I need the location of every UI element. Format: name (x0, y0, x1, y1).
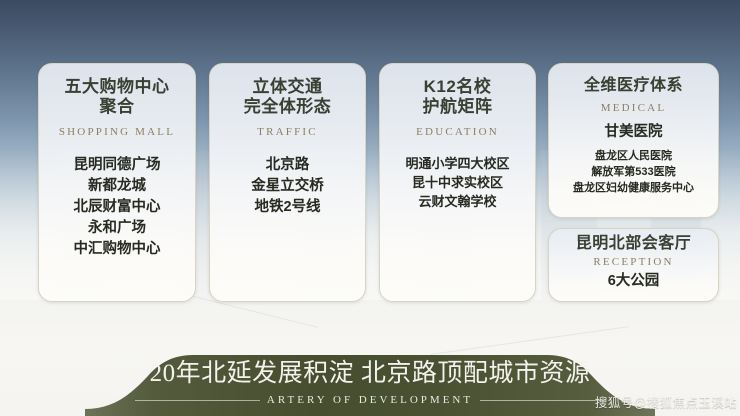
list-item: 盘龙区人民医院 (549, 149, 718, 165)
card-traffic-subtitle: TRAFFIC (210, 126, 365, 138)
card-traffic-title-line2: 完全体形态 (210, 97, 365, 117)
list-item: 解放军第533医院 (549, 165, 718, 181)
list-item: 盘龙区妇幼健康服务中心 (549, 181, 718, 197)
card-reception-title: 昆明北部会客厅 (549, 235, 718, 254)
card-education[interactable]: K12名校 护航矩阵 EDUCATION 明通小学四大校区 昆十中求实校区 云财… (379, 63, 536, 302)
card-traffic-title-line1: 立体交通 (210, 77, 365, 97)
bottom-banner: 20年北延发展积淀 北京路顶配城市资源 ARTERY OF DEVELOPMEN… (85, 349, 655, 416)
list-item: 云财文翰学校 (380, 193, 535, 212)
card-reception-subtitle: RECEPTION (549, 256, 718, 268)
card-shopping-subtitle: SHOPPING MALL (39, 126, 195, 138)
card-education-subtitle: EDUCATION (380, 126, 535, 138)
list-item: 北京路 (210, 155, 365, 176)
card-medical[interactable]: 全维医疗体系 MEDICAL 甘美医院 盘龙区人民医院 解放军第533医院 盘龙… (548, 63, 719, 218)
card-shopping-mall[interactable]: 五大购物中心 聚合 SHOPPING MALL 昆明同德广场 新都龙城 北辰财富… (38, 63, 196, 302)
list-item: 昆十中求实校区 (380, 174, 535, 193)
card-traffic[interactable]: 立体交通 完全体形态 TRAFFIC 北京路 金星立交桥 地铁2号线 (209, 63, 366, 302)
list-item: 明通小学四大校区 (380, 155, 535, 174)
watermark-label: 搜狐号@搜狐焦点玉溪站 (595, 392, 737, 411)
list-item: 金星立交桥 (210, 176, 365, 197)
list-item: 新都龙城 (39, 176, 195, 197)
card-shopping-title-line1: 五大购物中心 (39, 77, 195, 97)
card-medical-highlight: 甘美医院 (549, 122, 718, 143)
card-education-title-line1: K12名校 (380, 77, 535, 97)
banner-rule-right (480, 400, 605, 401)
list-item: 中汇购物中心 (39, 239, 195, 260)
card-shopping-title-line2: 聚合 (39, 97, 195, 117)
list-item: 永和广场 (39, 218, 195, 239)
card-medical-subtitle: MEDICAL (549, 102, 718, 114)
card-education-title-line2: 护航矩阵 (380, 97, 535, 117)
list-item: 6大公园 (549, 271, 718, 292)
list-item: 地铁2号线 (210, 197, 365, 218)
list-item: 昆明同德广场 (39, 155, 195, 176)
banner-headline: 20年北延发展积淀 北京路顶配城市资源 (150, 361, 591, 386)
slide-canvas: 五大购物中心 聚合 SHOPPING MALL 昆明同德广场 新都龙城 北辰财富… (0, 0, 740, 416)
card-medical-title: 全维医疗体系 (549, 77, 718, 96)
banner-subheadline: ARTERY OF DEVELOPMENT (260, 394, 480, 406)
list-item: 北辰财富中心 (39, 197, 195, 218)
banner-rule-left (135, 400, 260, 401)
card-reception[interactable]: 昆明北部会客厅 RECEPTION 6大公园 (548, 228, 719, 302)
